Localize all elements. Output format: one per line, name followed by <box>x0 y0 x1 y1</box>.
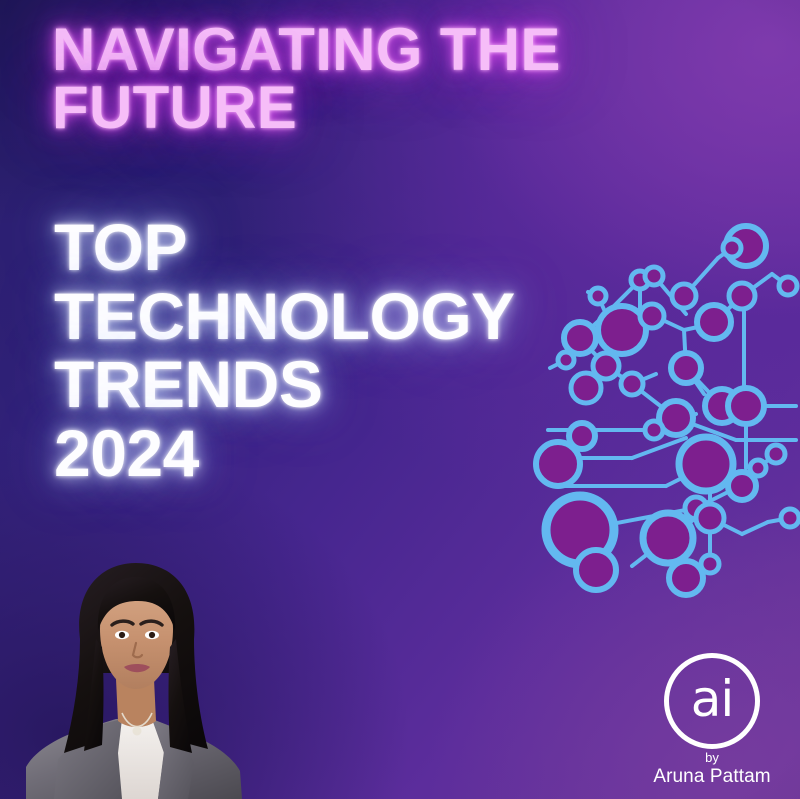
poster-canvas: Navigating the Future TOP TECHNOLOGY TRE… <box>0 0 800 799</box>
ai-circle-logo-icon: ai <box>664 653 760 749</box>
brand-logo-lockup[interactable]: ai by Aruna Pattam <box>648 653 776 789</box>
logo-by-label: by <box>648 751 776 766</box>
author-portrait-photo <box>18 553 250 799</box>
headline-line-3: TRENDS <box>54 350 574 419</box>
headline-line-1: TOP <box>54 213 574 282</box>
logo-mark-label: ai <box>691 674 734 724</box>
poster-headline: TOP TECHNOLOGY TRENDS 2024 <box>54 213 574 488</box>
headline-line-4: 2024 <box>54 419 574 488</box>
poster-eyebrow: Navigating the Future <box>52 21 612 137</box>
author-name-label: Aruna Pattam <box>648 766 776 789</box>
headline-line-2: TECHNOLOGY <box>54 282 574 351</box>
